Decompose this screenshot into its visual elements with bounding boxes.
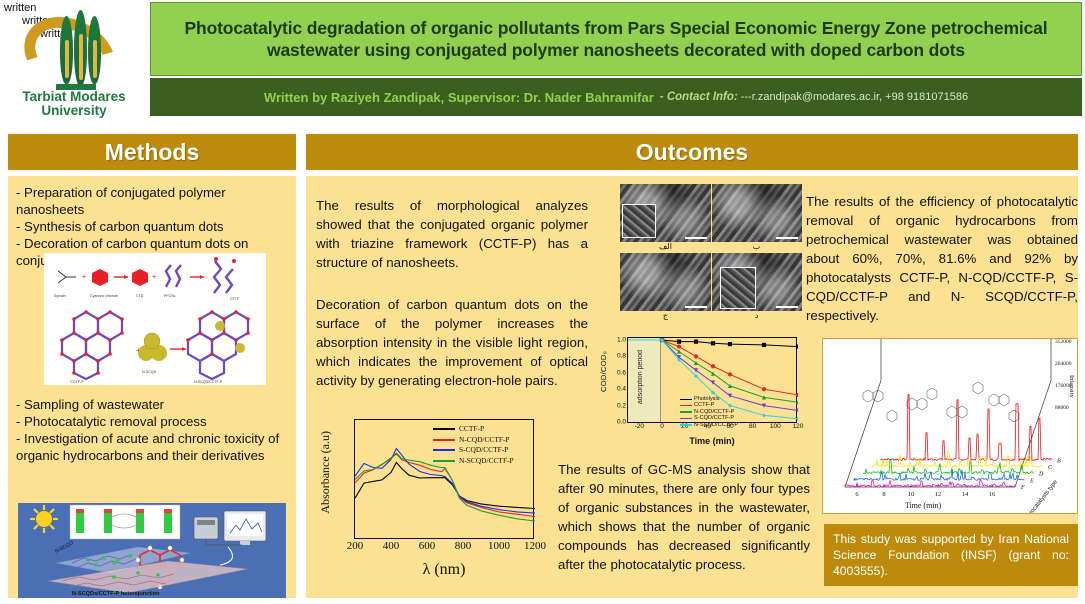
cod-x-tick: 0: [660, 423, 664, 430]
sem-row-top: [620, 184, 802, 242]
gcms-trace-label: B: [1057, 458, 1061, 464]
poster-header: written written written Tarbiat Modares …: [0, 0, 1085, 120]
logo-leaf-core-icon: [93, 40, 97, 78]
methods-item: - Sampling of wastewater: [16, 396, 292, 413]
uv-x-tick: 400: [383, 540, 400, 552]
sem-caption-b: ب: [711, 242, 802, 253]
uv-x-tick: 800: [455, 540, 472, 552]
methods-heading-text: Methods: [105, 139, 200, 166]
svg-text:N-SCQD: N-SCQD: [142, 370, 157, 374]
uv-legend-item: CCTF-P: [433, 424, 514, 435]
sem-scalebar-a: [685, 237, 707, 239]
logo-written-1: written: [4, 2, 36, 14]
logo-university-name: Tarbiat Modares University: [0, 90, 148, 118]
cod-legend-swatch: [680, 405, 692, 406]
cod-y-tick: 0.2: [617, 402, 626, 409]
sem-images-panel: الف ب ج د: [620, 184, 802, 326]
cod-plot-area: adsorption period 0.00.20.40.60.81.0 -20…: [627, 337, 797, 423]
logo-leaf-core-icon: [65, 40, 69, 78]
uv-legend-swatch: [433, 428, 455, 430]
cod-y-tick: 0.8: [617, 353, 626, 360]
synthesis-scheme-svg: Sylvain + Cyanuric chloride CTD + PFCSs: [44, 253, 266, 385]
gcms-waterfall-chart: BCDEF681012141688000176000264000352000 T…: [822, 338, 1078, 514]
uv-x-tick: 1200: [524, 540, 546, 552]
uv-legend-label: CCTF-P: [459, 424, 484, 435]
heterojunction-svg: N-SCQD N-SCQDs/CCTF-P heterojunction: [18, 503, 286, 598]
uv-x-tick: 600: [419, 540, 436, 552]
uv-y-axis-label: Absorbance (a.u): [318, 431, 333, 514]
sem-scalebar-d: [776, 306, 798, 308]
gcms-y-tick: 264000: [1055, 361, 1072, 367]
contact-info-value: ---r.zandipak@modares.ac.ir, +98 9181071…: [741, 91, 968, 103]
uv-legend-item: S-CQD/CCTF-P: [433, 445, 514, 456]
gcms-trace-label: D: [1038, 472, 1044, 478]
outcomes-section-header: Outcomes: [306, 134, 1078, 170]
uv-legend-label: S-CQD/CCTF-P: [459, 445, 508, 456]
gcms-trace-label: E: [1029, 478, 1034, 484]
cod-legend-label: N-SCQD/CCTF-P: [694, 422, 738, 428]
uv-legend-label: N-SCQD/CCTF-P: [459, 456, 514, 467]
university-logo: written written written Tarbiat Modares …: [0, 0, 148, 120]
sem-caption-c: ج: [620, 311, 711, 322]
cod-x-tick: -20: [635, 423, 644, 430]
gcms-svg: BCDEF681012141688000176000264000352000: [823, 339, 1078, 514]
uv-legend-swatch: [433, 460, 455, 462]
svg-text:Cyanuric chloride: Cyanuric chloride: [90, 294, 118, 298]
poster-root: written written written Tarbiat Modares …: [0, 0, 1085, 604]
author-names: Written by Raziyeh Zandipak, Supervisor:…: [264, 90, 654, 105]
paragraph-morphology: The results of morphological analyzes sh…: [316, 196, 588, 272]
uv-legend-swatch: [433, 449, 455, 451]
uv-legend-item: N-SCQD/CCTF-P: [433, 456, 514, 467]
paragraph-decoration: Decoration of carbon quantum dots on the…: [316, 295, 588, 390]
svg-text:CTTF: CTTF: [230, 297, 240, 301]
cod-x-tick: 80: [749, 423, 756, 430]
sem-image-b: [712, 184, 803, 242]
sem-inset-d: [720, 267, 756, 309]
heterojunction-figure: N-SCQD N-SCQDs/CCTF-P heterojunction: [18, 503, 286, 598]
logo-leaf-core-icon: [79, 34, 83, 80]
methods-list-bottom: - Sampling of wastewater - Photocatalyti…: [16, 396, 292, 464]
cod-y-tick: 0.6: [617, 369, 626, 376]
uv-x-tick: 1000: [488, 540, 510, 552]
uv-legend-swatch: [433, 439, 455, 441]
methods-item: - Investigation of acute and chronic tox…: [16, 430, 292, 464]
uv-legend: CCTF-PN-CQD/CCTF-PS-CQD/CCTF-PN-SCQD/CCT…: [433, 424, 514, 466]
cod-legend: PhotolysisCCTF-PN-CQD/CCTF-PS-CQD/CCTF-P…: [680, 396, 738, 428]
paragraph-efficiency: The results of the efficiency of photoca…: [806, 192, 1078, 325]
sem-scalebar-c: [685, 306, 707, 308]
svg-text:Sylvain: Sylvain: [54, 294, 66, 298]
gcms-x-tick: 16: [989, 491, 996, 498]
poster-title-text: Photocatalytic degradation of organic po…: [157, 17, 1075, 61]
cod-x-tick: 120: [793, 423, 804, 430]
gcms-x-tick: 14: [962, 491, 969, 498]
cod-legend-swatch: [680, 411, 692, 412]
uv-legend-label: N-CQD/CCTF-P: [459, 435, 510, 446]
gcms-x-axis-label: Time (min): [863, 501, 983, 510]
synthesis-scheme-figure: Sylvain + Cyanuric chloride CTD + PFCSs: [44, 253, 266, 385]
cod-kinetics-chart: COD/COD₀ adsorption period 0.00.20.40.60…: [597, 333, 804, 455]
uvvis-absorbance-chart: Absorbance (a.u) 20040060080010001200 CC…: [310, 413, 550, 593]
poster-title: Photocatalytic degradation of organic po…: [150, 2, 1082, 76]
cod-legend-swatch: [680, 399, 692, 400]
uv-x-axis-label: λ (nm): [354, 561, 534, 579]
sem-image-c: [620, 253, 711, 311]
sem-inset-a: [622, 204, 656, 238]
svg-text:CTD: CTD: [136, 294, 144, 298]
uv-x-tick: 200: [347, 540, 364, 552]
gcms-y-tick: 352000: [1055, 339, 1072, 345]
methods-item: - Photocatalytic removal process: [16, 413, 292, 430]
cod-legend-swatch: [680, 418, 692, 419]
acknowledgement-box: This study was supported by Iran Nationa…: [824, 524, 1078, 586]
svg-text:CCTF-P: CCTF-P: [70, 380, 84, 384]
sem-image-d: [712, 253, 803, 311]
cod-legend-item: N-SCQD/CCTF-P: [680, 422, 738, 428]
cod-legend-swatch: [680, 424, 692, 425]
sem-captions-bottom: ج د: [620, 311, 802, 322]
gcms-x-tick: 10: [908, 491, 915, 498]
sun-icon: [30, 505, 58, 533]
outcomes-heading-text: Outcomes: [636, 139, 748, 166]
sem-caption-a: الف: [620, 242, 711, 253]
methods-item: - Preparation of conjugated polymer nano…: [16, 184, 288, 218]
svg-text:+: +: [82, 274, 86, 281]
paragraph-gcms: The results of GC-MS analysis show that …: [558, 460, 810, 574]
gcms-x-tick: 12: [935, 491, 942, 498]
acknowledgement-text: This study was supported by Iran Nationa…: [833, 531, 1069, 579]
svg-text:N-SCQD/CCTF-P: N-SCQD/CCTF-P: [194, 380, 223, 384]
svg-text:PFCSs: PFCSs: [164, 294, 176, 298]
sem-scalebar-b: [776, 237, 798, 239]
methods-item: - Synthesis of carbon quantum dots: [16, 218, 288, 235]
sem-captions-top: الف ب: [620, 242, 802, 253]
logo-university-line2: University: [0, 104, 148, 118]
gcms-y-axis-label: Intensity: [1068, 375, 1075, 398]
heterojunction-caption-text: N-SCQDs/CCTF-P heterojunction: [72, 591, 160, 597]
sem-row-bottom: [620, 253, 802, 311]
sem-image-a: [620, 184, 711, 242]
gcms-trace-label: F: [1020, 485, 1025, 491]
gcms-x-tick: 8: [882, 491, 885, 498]
gcms-y-tick: 88000: [1055, 405, 1069, 411]
cod-x-axis-label: Time (min): [627, 436, 797, 446]
cod-y-tick: 0.0: [617, 419, 626, 426]
methods-section-header: Methods: [8, 134, 296, 170]
contact-info-label: - Contact Info:: [660, 91, 738, 103]
cod-x-tick: 100: [770, 423, 781, 430]
sem-caption-d: د: [711, 311, 802, 322]
cod-y-axis-label: COD/COD₀: [599, 351, 608, 392]
author-contact-bar: Written by Raziyeh Zandipak, Supervisor:…: [150, 78, 1082, 116]
svg-text:+: +: [152, 274, 156, 281]
uv-legend-item: N-CQD/CCTF-P: [433, 435, 514, 446]
cod-y-tick: 0.4: [617, 386, 626, 393]
cod-y-tick: 1.0: [617, 337, 626, 344]
uv-plot-area: 20040060080010001200 CCTF-PN-CQD/CCTF-PS…: [354, 419, 534, 539]
logo-university-line1: Tarbiat Modares: [0, 90, 148, 104]
